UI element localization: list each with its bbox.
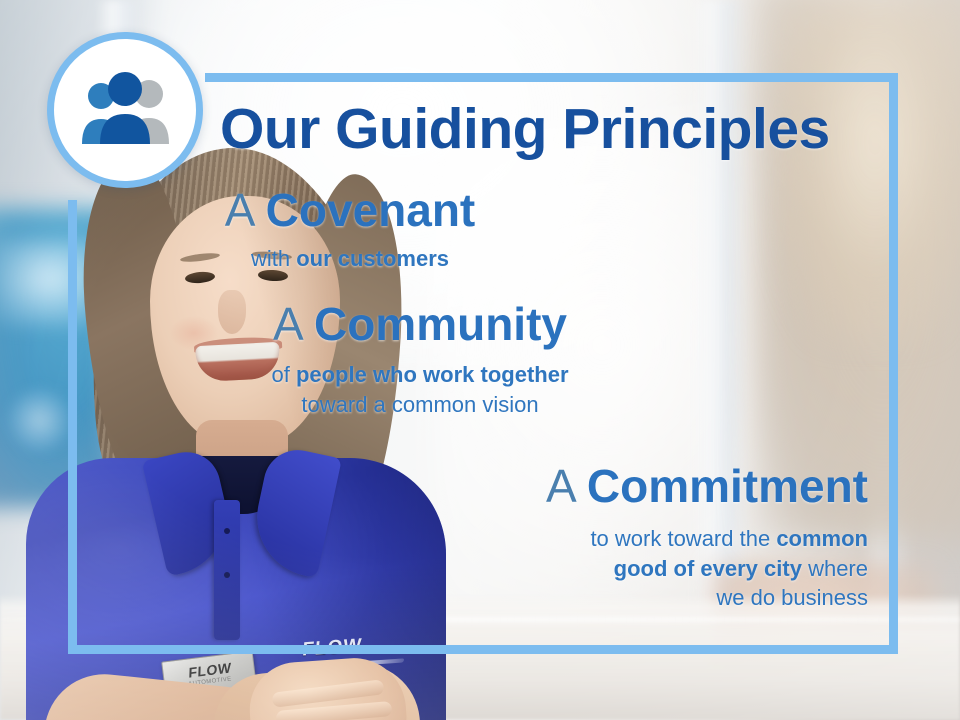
subtitle-line: we do business xyxy=(0,583,868,612)
people-group-icon-badge xyxy=(47,32,203,188)
subtitle-line: of people who work together xyxy=(0,360,840,389)
subtitle-fragment-strong: our customers xyxy=(296,246,449,271)
subtitle-fragment: of xyxy=(271,362,295,387)
subtitle-fragment-strong: people who work together xyxy=(296,362,569,387)
principle-covenant: A Covenant with our customers xyxy=(0,186,700,274)
principle-subtitle: of people who work together toward a com… xyxy=(0,360,840,419)
blurred-customer-hair xyxy=(780,10,960,340)
principle-subtitle: with our customers xyxy=(0,244,700,273)
principle-commitment: A Commitment to work toward the common g… xyxy=(0,462,868,613)
principle-title: A Covenant xyxy=(0,186,700,234)
page-title: Our Guiding Principles xyxy=(220,96,880,162)
subtitle-fragment: with xyxy=(251,246,296,271)
frame-border-bottom xyxy=(68,645,898,654)
people-group-icon xyxy=(73,72,177,148)
principle-keyword: Community xyxy=(314,298,567,350)
subtitle-fragment-strong: common xyxy=(776,526,868,551)
subtitle-fragment-strong: good of every city xyxy=(614,556,802,581)
principle-keyword: Covenant xyxy=(266,184,476,236)
guiding-principles-graphic: FLOW FLOW AUTOMOTIVE xyxy=(0,0,960,720)
subtitle-fragment: where xyxy=(802,556,868,581)
frame-border-right xyxy=(889,73,898,654)
principle-article: A xyxy=(546,460,574,512)
principle-article: A xyxy=(273,298,301,350)
frame-border-top xyxy=(205,73,898,82)
subtitle-line: good of every city where xyxy=(0,554,868,583)
subtitle-fragment: to work toward the xyxy=(590,526,776,551)
principle-title: A Community xyxy=(0,300,840,348)
principle-community: A Community of people who work together … xyxy=(0,300,840,419)
principle-title: A Commitment xyxy=(0,462,868,510)
principle-subtitle: to work toward the common good of every … xyxy=(0,524,868,612)
subtitle-line: toward a common vision xyxy=(0,390,840,419)
subtitle-line: to work toward the common xyxy=(0,524,868,553)
principle-article: A xyxy=(225,184,253,236)
principle-keyword: Commitment xyxy=(587,460,868,512)
